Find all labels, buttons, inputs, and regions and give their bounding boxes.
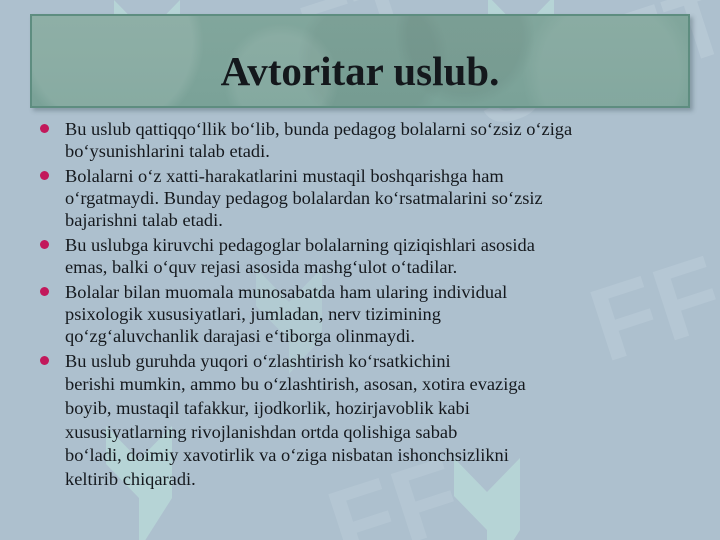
list-item-text: Bu uslubga kiruvchi pedagoglar bolalarni…	[65, 234, 696, 279]
list-item-text: Bolalarni o‘z xatti-harakatlarini mustaq…	[65, 165, 696, 232]
slide-title-panel: Avtoritar uslub.	[30, 14, 690, 108]
list-item: Bu uslub qattiqqo‘llik bo‘lib, bunda ped…	[36, 118, 696, 163]
list-item-text: Bu uslub qattiqqo‘llik bo‘lib, bunda ped…	[65, 118, 696, 163]
slide-body-list: Bu uslub qattiqqo‘llik bo‘lib, bunda ped…	[36, 118, 696, 493]
list-item: Bu uslubga kiruvchi pedagoglar bolalarni…	[36, 234, 696, 279]
list-item-text: Bolalar bilan muomala munosabatda ham ul…	[65, 281, 696, 348]
list-item: Bolalar bilan muomala munosabatda ham ul…	[36, 281, 696, 348]
bullet-dot-icon	[40, 240, 49, 249]
page-title: Avtoritar uslub.	[221, 51, 500, 92]
bullet-dot-icon	[40, 124, 49, 133]
list-item: Bu uslub guruhda yuqori o‘zlashtirish ko…	[36, 350, 696, 492]
bullet-dot-icon	[40, 287, 49, 296]
bullet-dot-icon	[40, 171, 49, 180]
bullet-dot-icon	[40, 356, 49, 365]
list-item-text: Bu uslub guruhda yuqori o‘zlashtirish ko…	[65, 350, 696, 492]
list-item: Bolalarni o‘z xatti-harakatlarini mustaq…	[36, 165, 696, 232]
presentation-slide: SOFT SOFT FF FF Avtoritar uslub.	[0, 0, 720, 540]
